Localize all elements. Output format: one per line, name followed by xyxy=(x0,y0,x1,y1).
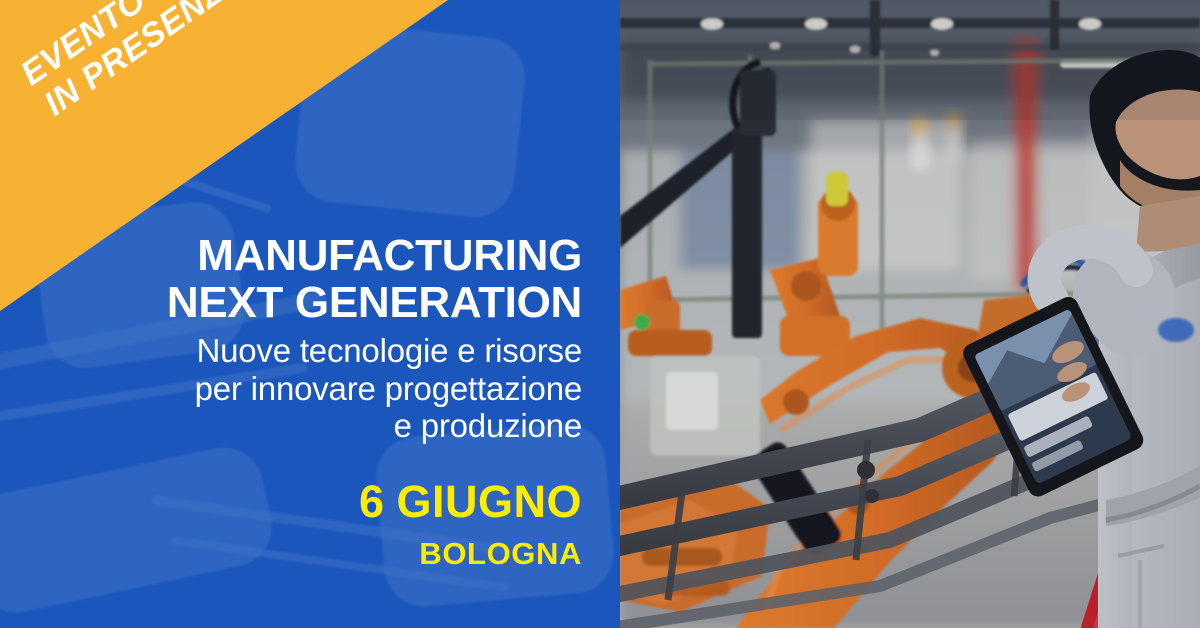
banner-text-block: MANUFACTURING NEXT GENERATION Nuove tecn… xyxy=(112,232,582,569)
event-banner: EVENTO IN PRESENZA MANUFACTURING NEXT GE… xyxy=(0,0,1200,628)
headline-line-1: MANUFACTURING xyxy=(112,232,582,279)
event-day: 6 xyxy=(359,476,385,527)
factory-robotics-photo xyxy=(620,0,1200,628)
headline-line-2: NEXT GENERATION xyxy=(112,279,582,326)
event-month: GIUGNO xyxy=(396,476,582,527)
event-city: BOLOGNA xyxy=(112,538,582,569)
subtitle-block: Nuove tecnologie e risorse per innovare … xyxy=(112,332,582,445)
subtitle-line-3: e produzione xyxy=(112,407,582,445)
subtitle-line-1: Nuove tecnologie e risorse xyxy=(112,332,582,370)
subtitle-line-2: per innovare progettazione xyxy=(112,370,582,408)
event-date: 6GIUGNO xyxy=(112,479,582,524)
